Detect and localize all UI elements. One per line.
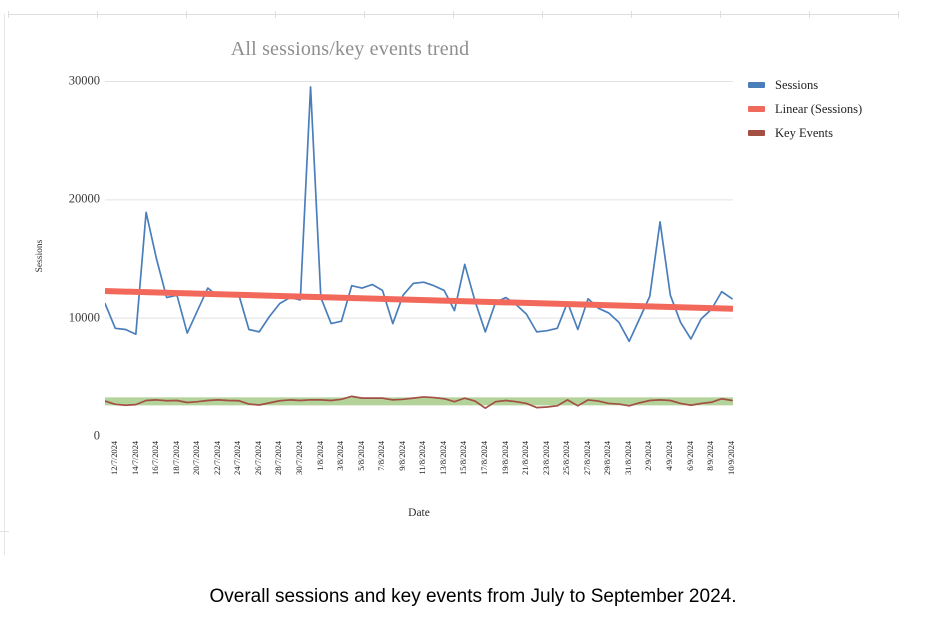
- ruler-tick: [898, 11, 899, 18]
- ruler-tick: [631, 11, 632, 18]
- legend-label: Linear (Sessions): [775, 102, 862, 117]
- x-axis-tick-label: 21/8/2024: [520, 441, 530, 475]
- x-axis-tick-label: 20/7/2024: [191, 441, 201, 475]
- ruler-tick: [720, 11, 721, 18]
- legend-item-linear-sessions[interactable]: Linear (Sessions): [748, 97, 933, 121]
- x-axis-tick-label: 29/8/2024: [602, 441, 612, 475]
- x-axis-title: Date: [105, 507, 733, 519]
- x-axis-tick-label: 11/8/2024: [417, 441, 427, 475]
- legend-swatch-icon: [748, 130, 765, 136]
- ruler-tick: [453, 11, 454, 18]
- x-axis-tick-label: 12/7/2024: [109, 441, 119, 475]
- ruler-tick: [809, 11, 810, 18]
- series-layer: [105, 87, 733, 408]
- x-axis-tick-labels: 12/7/202414/7/202416/7/202418/7/202420/7…: [105, 439, 733, 497]
- x-axis-tick-label: 3/8/2024: [335, 441, 345, 471]
- plot-svg: [105, 81, 733, 436]
- x-axis-tick-label: 7/8/2024: [376, 441, 386, 471]
- legend-item-sessions[interactable]: Sessions: [748, 73, 933, 97]
- x-axis-tick-label: 8/9/2024: [705, 441, 715, 471]
- x-axis-tick-label: 5/8/2024: [356, 441, 366, 471]
- x-axis-tick-label: 18/7/2024: [171, 441, 181, 475]
- x-axis-tick-label: 28/7/2024: [273, 441, 283, 475]
- x-axis-tick-label: 1/8/2024: [315, 441, 325, 471]
- y-axis-tick-label: 30000: [54, 74, 100, 89]
- gridlines: [105, 82, 733, 437]
- y-axis-tick-labels: 0100002000030000: [50, 81, 100, 436]
- x-axis-tick-label: 15/8/2024: [458, 441, 468, 475]
- x-axis-tick-label: 24/7/2024: [232, 441, 242, 475]
- y-axis-tick-label: 0: [54, 429, 100, 444]
- legend-label: Sessions: [775, 78, 818, 93]
- legend-swatch-icon: [748, 82, 765, 88]
- chart-title: All sessions/key events trend: [0, 38, 700, 61]
- y-axis-title: Sessions: [35, 211, 45, 301]
- legend-item-key-events[interactable]: Key Events: [748, 121, 933, 145]
- ruler-tick: [364, 11, 365, 18]
- x-axis-tick-label: 31/8/2024: [623, 441, 633, 475]
- legend-swatch-icon: [748, 106, 765, 112]
- ruler-tick: [542, 11, 543, 18]
- y-axis-tick-label: 20000: [54, 192, 100, 207]
- x-axis-tick-label: 17/8/2024: [479, 441, 489, 475]
- x-axis-tick-label: 2/9/2024: [643, 441, 653, 471]
- ruler-tick: [97, 11, 98, 18]
- x-axis-tick-label: 9/8/2024: [397, 441, 407, 471]
- x-axis-tick-label: 4/9/2024: [664, 441, 674, 471]
- x-axis-tick-label: 25/8/2024: [561, 441, 571, 475]
- x-axis-tick-label: 14/7/2024: [130, 441, 140, 475]
- x-axis-tick-label: 6/9/2024: [685, 441, 695, 471]
- ruler-tick: [186, 11, 187, 18]
- ruler-tick: [8, 11, 9, 18]
- y-axis-tick-label: 10000: [54, 310, 100, 325]
- ruler-tick: [275, 11, 276, 18]
- x-axis-tick-label: 22/7/2024: [212, 441, 222, 475]
- legend-label: Key Events: [775, 126, 833, 141]
- chart-object[interactable]: All sessions/key events trend Sessions 0…: [0, 18, 946, 546]
- x-axis-tick-label: 10/9/2024: [726, 441, 736, 475]
- chart-legend: SessionsLinear (Sessions)Key Events: [748, 73, 933, 145]
- x-axis-tick-label: 26/7/2024: [253, 441, 263, 475]
- figure-caption: Overall sessions and key events from Jul…: [0, 586, 946, 608]
- plot-area[interactable]: [105, 81, 733, 436]
- x-axis-tick-label: 27/8/2024: [582, 441, 592, 475]
- x-axis-tick-label: 23/8/2024: [541, 441, 551, 475]
- x-axis-tick-label: 16/7/2024: [150, 441, 160, 475]
- document-ruler-top: [8, 14, 898, 15]
- x-axis-tick-label: 19/8/2024: [500, 441, 510, 475]
- x-axis-tick-label: 30/7/2024: [294, 441, 304, 475]
- x-axis-tick-label: 13/8/2024: [438, 441, 448, 475]
